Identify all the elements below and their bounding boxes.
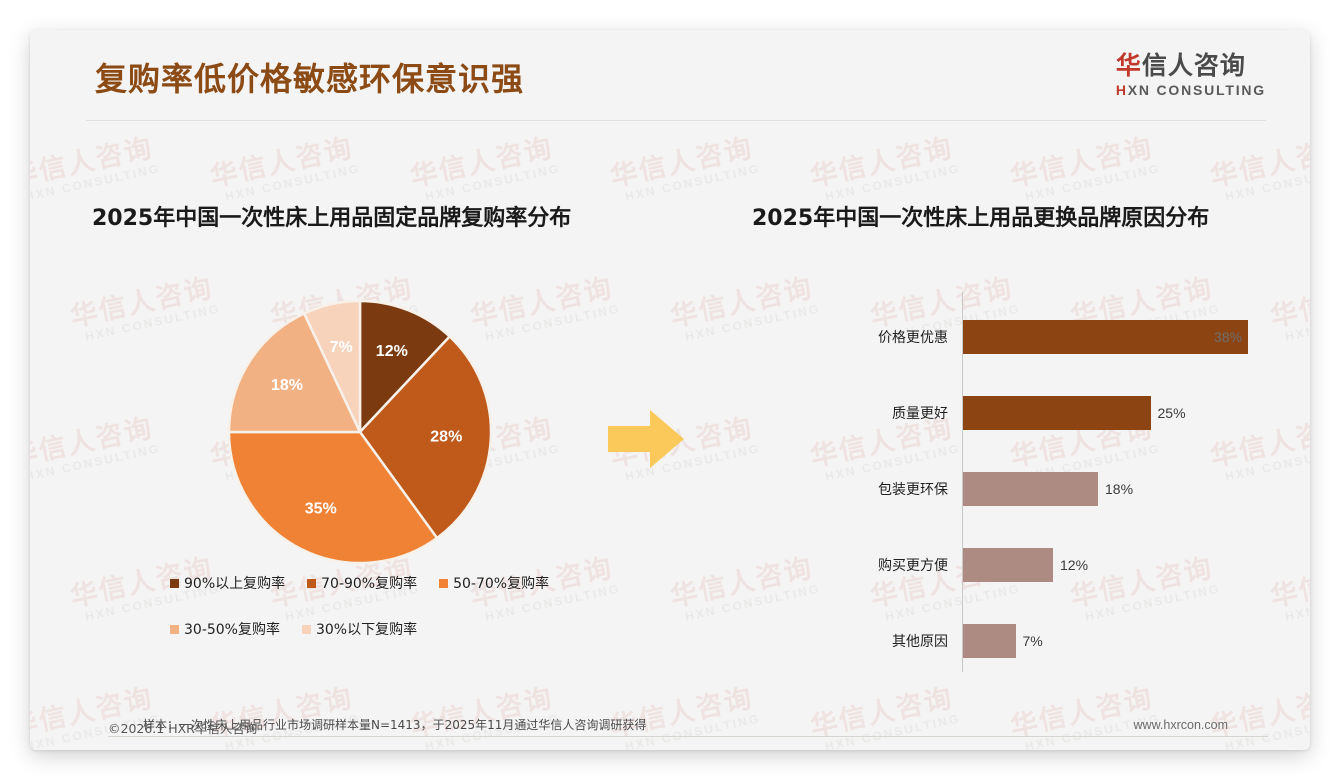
watermark-tile: 华信人咨询HXN CONSULTING (1206, 125, 1310, 206)
logo-english-rest: XN CONSULTING (1128, 82, 1266, 98)
watermark-chinese: 华信人咨询 (66, 265, 219, 334)
bar-category-label: 质量更好 (852, 403, 956, 423)
logo-h-glyph: H (1116, 82, 1128, 98)
bar-value-label: 18% (1105, 481, 1133, 497)
bar-track: 25% (963, 396, 1282, 430)
bar-track: 12% (963, 548, 1282, 582)
logo-chinese-rest: 信人咨询 (1142, 51, 1246, 80)
watermark-chinese: 华信人咨询 (30, 125, 159, 194)
logo-english-text: HXN CONSULTING (1116, 82, 1266, 98)
pie-slice-label: 7% (330, 339, 353, 356)
legend-swatch-icon (302, 625, 311, 634)
copyright-text: ©2026.1 HXR华信人咨询 (108, 718, 257, 737)
legend-item[interactable]: 50-70%复购率 (439, 573, 549, 593)
logo-chinese-text: 华信人咨询 (1116, 52, 1266, 81)
watermark-english: HXN CONSULTING (30, 161, 162, 203)
page-title: 复购率低价格敏感环保意识强 (95, 54, 524, 100)
bar-value-label: 12% (1060, 557, 1088, 573)
watermark-chinese: 华信人咨询 (666, 545, 819, 614)
slide-canvas: 华信人咨询HXN CONSULTING华信人咨询HXN CONSULTING华信… (30, 30, 1310, 750)
repurchase-rate-pie-chart: 12%28%35%18%7% (225, 297, 495, 567)
bar-fill[interactable] (963, 548, 1053, 582)
watermark-chinese: 华信人咨询 (606, 125, 759, 194)
legend-label: 50-70%复购率 (453, 573, 549, 593)
watermark-tile: 华信人咨询HXN CONSULTING (406, 125, 561, 206)
legend-item[interactable]: 90%以上复购率 (170, 573, 285, 593)
bar-category-label: 其他原因 (852, 631, 956, 651)
watermark-chinese: 华信人咨询 (1006, 125, 1159, 194)
watermark-tile: 华信人咨询HXN CONSULTING (606, 125, 761, 206)
bar-track: 18% (963, 472, 1282, 506)
right-chart-title: 2025年中国一次性床上用品更换品牌原因分布 (752, 200, 1209, 232)
left-chart-title: 2025年中国一次性床上用品固定品牌复购率分布 (92, 200, 571, 232)
legend-swatch-icon (307, 579, 316, 588)
bar-row: 质量更好25% (852, 396, 1282, 430)
bar-category-label: 价格更优惠 (852, 327, 956, 347)
watermark-tile: 华信人咨询HXN CONSULTING (206, 125, 361, 206)
company-logo: 华信人咨询 HXN CONSULTING (1116, 52, 1266, 98)
bar-category-label: 包装更环保 (852, 479, 956, 499)
legend-item[interactable]: 70-90%复购率 (307, 573, 417, 593)
watermark-english: HXN CONSULTING (684, 301, 822, 343)
header-divider (86, 120, 1266, 121)
watermark-english: HXN CONSULTING (1224, 161, 1310, 203)
watermark-chinese: 华信人咨询 (666, 265, 819, 334)
bar-fill[interactable] (963, 320, 1248, 354)
arrow-right-svg (608, 408, 684, 470)
watermark-chinese: 华信人咨询 (406, 125, 559, 194)
watermark-tile: 华信人咨询HXN CONSULTING (1006, 125, 1161, 206)
website-url: www.hxrcon.com (1134, 718, 1228, 732)
watermark-tile: 华信人咨询HXN CONSULTING (666, 545, 821, 626)
bar-row: 其他原因7% (852, 624, 1282, 658)
slide-footer: ©2026.1 HXR华信人咨询 www.hxrcon.com (30, 708, 1310, 750)
watermark-english: HXN CONSULTING (1284, 301, 1310, 343)
pie-svg: 12%28%35%18%7% (225, 297, 495, 567)
watermark-english: HXN CONSULTING (30, 441, 162, 483)
legend-swatch-icon (170, 625, 179, 634)
pie-legend: 90%以上复购率70-90%复购率50-70%复购率30-50%复购率30%以下… (170, 573, 600, 639)
bar-track: 38% (963, 320, 1282, 354)
watermark-chinese: 华信人咨询 (806, 125, 959, 194)
watermark-chinese: 华信人咨询 (30, 405, 159, 474)
slide-header: 复购率低价格敏感环保意识强 华信人咨询 HXN CONSULTING (30, 30, 1310, 122)
legend-label: 90%以上复购率 (184, 573, 285, 593)
legend-swatch-icon (439, 579, 448, 588)
bar-row: 购买更方便12% (852, 548, 1282, 582)
watermark-english: HXN CONSULTING (1284, 581, 1310, 623)
watermark-chinese: 华信人咨询 (1206, 125, 1310, 194)
watermark-tile: 华信人咨询HXN CONSULTING (806, 125, 961, 206)
watermark-english: HXN CONSULTING (84, 301, 222, 343)
pie-slice-label: 18% (271, 377, 303, 394)
watermark-english: HXN CONSULTING (224, 161, 362, 203)
bar-fill[interactable] (963, 472, 1098, 506)
pie-slice-label: 12% (376, 343, 408, 360)
brand-switch-reason-bar-chart: 价格更优惠38%质量更好25%包装更环保18%购买更方便12%其他原因7% (852, 292, 1282, 672)
legend-item[interactable]: 30%以下复购率 (302, 619, 417, 639)
watermark-tile: 华信人咨询HXN CONSULTING (30, 405, 162, 486)
legend-swatch-icon (170, 579, 179, 588)
legend-label: 70-90%复购率 (321, 573, 417, 593)
bar-track: 7% (963, 624, 1282, 658)
legend-label: 30-50%复购率 (184, 619, 280, 639)
bar-fill[interactable] (963, 396, 1151, 430)
legend-item[interactable]: 30-50%复购率 (170, 619, 280, 639)
logo-hua-glyph: 华 (1116, 51, 1142, 80)
watermark-english: HXN CONSULTING (684, 581, 822, 623)
watermark-english: HXN CONSULTING (1024, 161, 1162, 203)
pie-slice-label: 28% (430, 429, 462, 446)
pie-slice-label: 35% (305, 500, 337, 517)
watermark-english: HXN CONSULTING (624, 161, 762, 203)
arrow-right-icon (608, 408, 684, 475)
bar-value-label: 7% (1023, 633, 1043, 649)
watermark-english: HXN CONSULTING (824, 161, 962, 203)
bar-row: 价格更优惠38% (852, 320, 1282, 354)
watermark-tile: 华信人咨询HXN CONSULTING (30, 125, 162, 206)
bar-fill[interactable] (963, 624, 1016, 658)
bar-value-label: 25% (1158, 405, 1186, 421)
legend-label: 30%以下复购率 (316, 619, 417, 639)
watermark-english: HXN CONSULTING (424, 161, 562, 203)
watermark-chinese: 华信人咨询 (206, 125, 359, 194)
watermark-tile: 华信人咨询HXN CONSULTING (66, 265, 221, 346)
watermark-tile: 华信人咨询HXN CONSULTING (666, 265, 821, 346)
bar-category-label: 购买更方便 (852, 555, 956, 575)
bar-row: 包装更环保18% (852, 472, 1282, 506)
watermark-english: HXN CONSULTING (484, 301, 622, 343)
bar-value-label: 38% (1214, 329, 1242, 345)
